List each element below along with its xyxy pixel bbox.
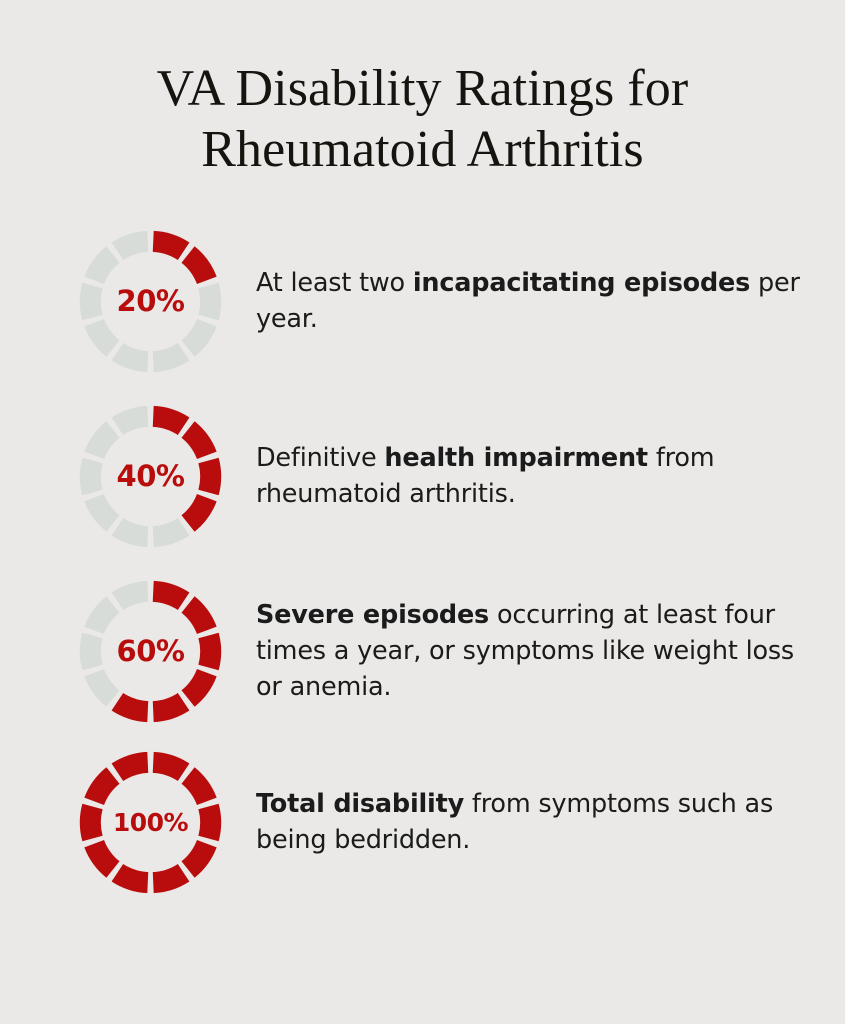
donut-segment-filled bbox=[117, 762, 147, 772]
rating-list: 20% At least two incapacitating episodes… bbox=[0, 229, 845, 895]
list-item-text: Total disability from symptoms such as b… bbox=[256, 786, 805, 858]
donut-segment-empty bbox=[117, 241, 147, 251]
donut-svg bbox=[78, 579, 223, 724]
donut-segment-filled bbox=[117, 872, 147, 882]
donut-segment-filled bbox=[153, 416, 183, 426]
donut-chart-100: 100% bbox=[78, 750, 223, 895]
text-bold: health impairment bbox=[384, 443, 648, 473]
infographic-root: VA Disability Ratings for Rheumatoid Art… bbox=[0, 0, 845, 1024]
donut-segment-filled bbox=[188, 672, 207, 698]
donut-segment-filled bbox=[94, 775, 113, 801]
donut-segment-empty bbox=[117, 416, 147, 426]
donut-segment-filled bbox=[188, 497, 207, 523]
page-title-line-2: Rheumatoid Arthritis bbox=[201, 121, 644, 178]
donut-segment-empty bbox=[94, 672, 113, 698]
title-block: VA Disability Ratings for Rheumatoid Art… bbox=[0, 0, 845, 181]
list-item: 60% Severe episodes occurring at least f… bbox=[78, 579, 805, 724]
text-lead: At least two bbox=[256, 268, 413, 298]
donut-segment-empty bbox=[117, 591, 147, 601]
text-lead: Definitive bbox=[256, 443, 384, 473]
donut-segment-filled bbox=[90, 806, 92, 838]
list-item-text: Severe episodes occurring at least four … bbox=[256, 597, 805, 706]
list-item: 20% At least two incapacitating episodes… bbox=[78, 229, 805, 374]
donut-svg bbox=[78, 404, 223, 549]
donut-chart-60: 60% bbox=[78, 579, 223, 724]
donut-segment-empty bbox=[188, 322, 207, 348]
donut-segment-empty bbox=[94, 497, 113, 523]
donut-svg bbox=[78, 750, 223, 895]
list-item-text: Definitive health impairment from rheuma… bbox=[256, 440, 805, 512]
page-title: VA Disability Ratings for Rheumatoid Art… bbox=[103, 58, 743, 181]
list-item: 100% Total disability from symptoms such… bbox=[78, 750, 805, 895]
list-item-text: At least two incapacitating episodes per… bbox=[256, 265, 805, 337]
donut-segment-empty bbox=[209, 285, 211, 317]
donut-segment-filled bbox=[153, 241, 183, 251]
donut-segment-filled bbox=[94, 843, 113, 869]
donut-segment-empty bbox=[153, 351, 183, 361]
list-item: 40% Definitive health impairment from rh… bbox=[78, 404, 805, 549]
donut-segment-filled bbox=[209, 635, 211, 667]
donut-segment-filled bbox=[188, 775, 207, 801]
donut-segment-empty bbox=[90, 285, 92, 317]
donut-segment-filled bbox=[153, 701, 183, 711]
donut-segment-filled bbox=[188, 604, 207, 630]
donut-segment-empty bbox=[153, 526, 183, 536]
donut-segment-filled bbox=[117, 701, 147, 711]
donut-segment-filled bbox=[188, 843, 207, 869]
donut-segment-empty bbox=[94, 604, 113, 630]
donut-chart-20: 20% bbox=[78, 229, 223, 374]
donut-segment-empty bbox=[90, 635, 92, 667]
donut-segment-empty bbox=[94, 322, 113, 348]
donut-segment-filled bbox=[209, 806, 211, 838]
text-bold: Severe episodes bbox=[256, 600, 489, 630]
donut-chart-40: 40% bbox=[78, 404, 223, 549]
donut-segment-filled bbox=[209, 460, 211, 492]
donut-segment-empty bbox=[117, 526, 147, 536]
donut-segment-empty bbox=[94, 254, 113, 280]
text-bold: incapacitating episodes bbox=[413, 268, 750, 298]
donut-segment-filled bbox=[153, 591, 183, 601]
donut-segment-filled bbox=[188, 254, 207, 280]
donut-segment-filled bbox=[188, 429, 207, 455]
donut-segment-empty bbox=[94, 429, 113, 455]
text-bold: Total disability bbox=[256, 789, 464, 819]
donut-segment-filled bbox=[153, 872, 183, 882]
page-title-line-1: VA Disability Ratings for bbox=[157, 60, 689, 117]
donut-segment-empty bbox=[90, 460, 92, 492]
donut-segment-empty bbox=[117, 351, 147, 361]
donut-svg bbox=[78, 229, 223, 374]
donut-segment-filled bbox=[153, 762, 183, 772]
